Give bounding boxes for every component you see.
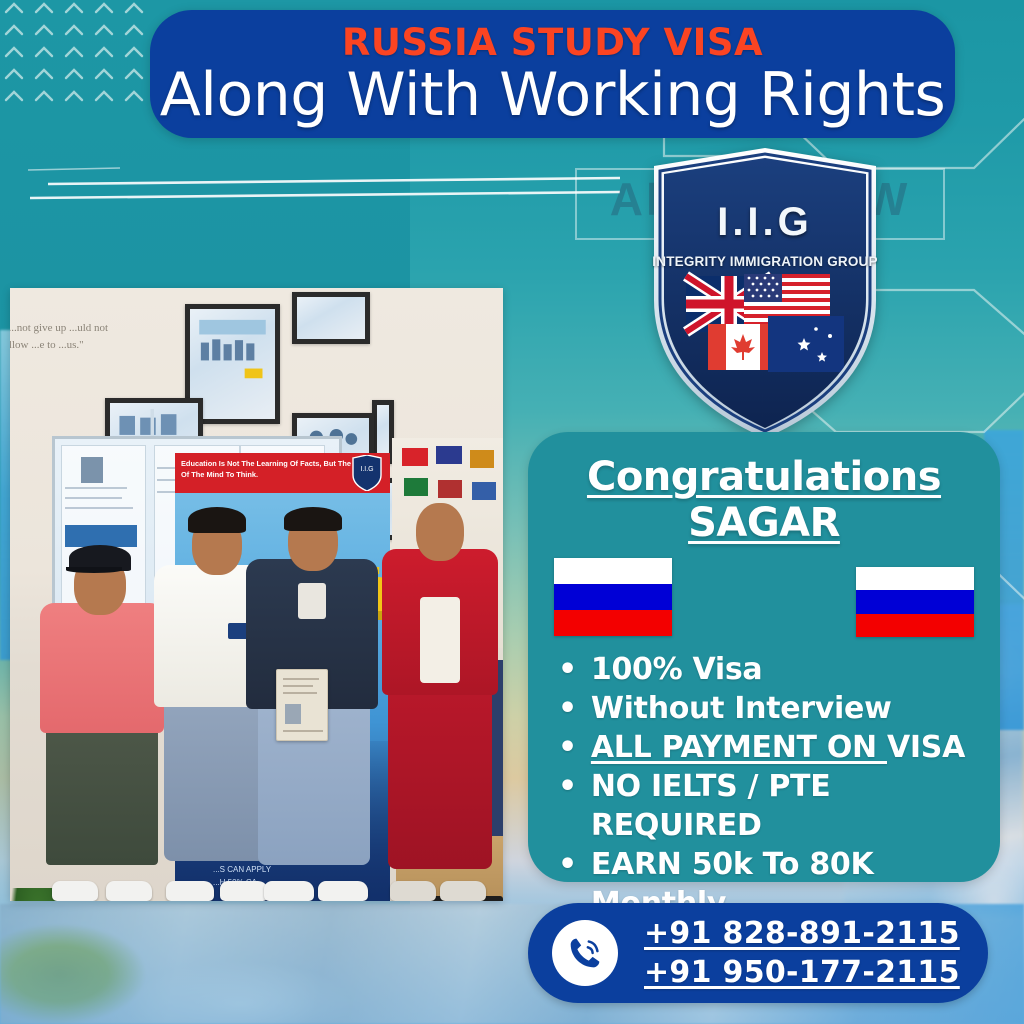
bullet-marker: • [558, 728, 577, 767]
page-title: Along With Working Rights [160, 65, 945, 126]
chevron-pattern [4, 2, 174, 122]
bullet-marker: • [558, 767, 577, 806]
list-item-label-underlined: ALL PAYMENT ON [591, 730, 887, 765]
contact-bar[interactable]: +91 828-891-2115 +91 950-177-2115 [528, 903, 988, 1003]
list-item-label: VISA [887, 730, 965, 765]
flag-row [550, 558, 978, 644]
benefits-list: • 100% Visa • Without Interview • ALL PA… [550, 650, 978, 923]
client-photo: "...not give up ...uld not allow ...e to… [10, 288, 503, 901]
person-client [246, 509, 380, 901]
company-logo: I.I.G INTEGRITY IMMIGRATION GROUP [640, 148, 890, 438]
header-kicker: RUSSIA STUDY VISA [342, 24, 763, 63]
list-item: • 100% Visa [558, 650, 978, 689]
certificate-frame [292, 292, 370, 344]
list-item: • NO IELTS / PTE REQUIRED [558, 767, 978, 845]
list-item-label: Without Interview [591, 691, 892, 726]
header-banner: RUSSIA STUDY VISA Along With Working Rig… [150, 10, 955, 138]
congratulations-heading: Congratulations SAGAR [550, 454, 978, 546]
poster-canvas: RUSSIA STUDY VISA Along With Working Rig… [0, 0, 1024, 1024]
person-first [36, 541, 168, 901]
shield-icon [640, 148, 890, 438]
phone-numbers: +91 828-891-2115 +91 950-177-2115 [644, 914, 960, 992]
bullet-marker: • [558, 845, 577, 884]
phone-number-secondary[interactable]: +91 950-177-2115 [644, 953, 960, 992]
russia-flag-small [856, 567, 974, 637]
phone-number-primary[interactable]: +91 828-891-2115 [644, 914, 960, 953]
person-consultant [378, 493, 500, 901]
phone-call-icon [552, 920, 618, 986]
list-item: • ALL PAYMENT ON VISA [558, 728, 978, 767]
svg-text:I.I.G: I.I.G [360, 466, 373, 473]
list-item: • Without Interview [558, 689, 978, 728]
sweep-lines-decoration [0, 150, 620, 220]
wall-quote-text: "...not give up ...uld not allow ...e to… [10, 320, 124, 354]
russia-flag-large [554, 558, 672, 636]
bullet-marker: • [558, 689, 577, 728]
list-item-label: NO IELTS / PTE REQUIRED [591, 769, 831, 843]
list-item-label: 100% Visa [591, 652, 763, 687]
passport-document [276, 669, 328, 741]
bullet-marker: • [558, 650, 577, 689]
info-panel: Congratulations SAGAR • 100% Visa • With… [528, 432, 1000, 882]
